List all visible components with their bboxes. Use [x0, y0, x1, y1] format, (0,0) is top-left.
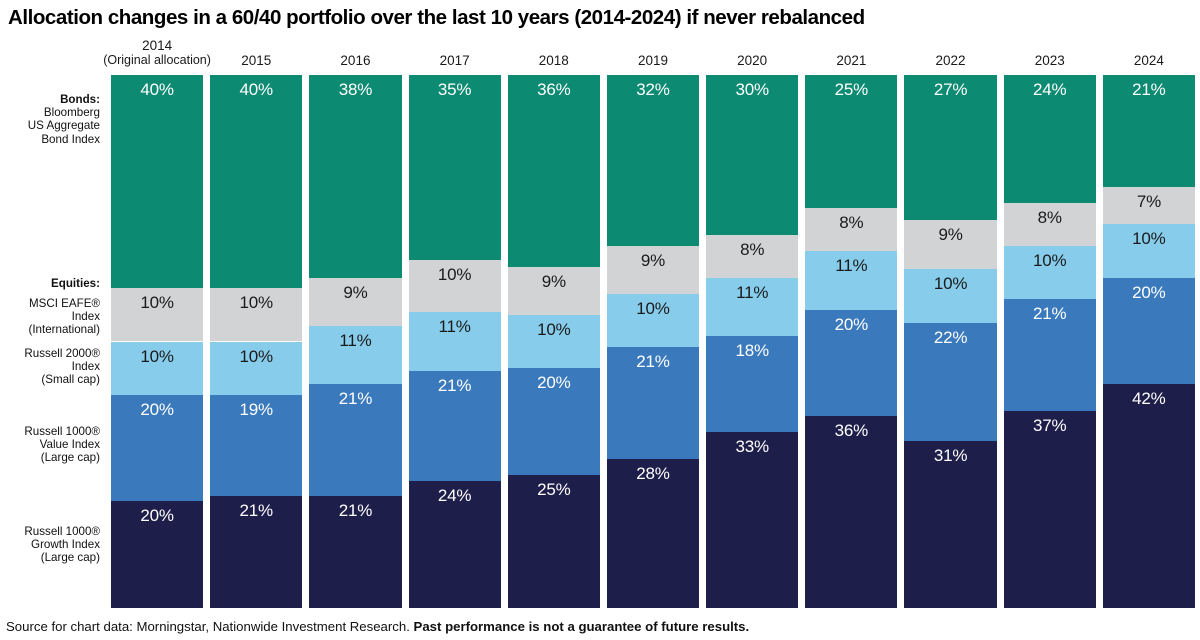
category-axis-labels: Bonds:BloombergUS AggregateBond IndexEqu…: [0, 75, 108, 608]
segment-value-label: 24%: [1033, 75, 1066, 98]
segment-value-label: 9%: [542, 267, 566, 290]
segment-value-label: 10%: [140, 288, 173, 311]
segment-russell-2000-2022: 10%: [904, 269, 996, 323]
year-label-2018: 2018: [508, 38, 600, 72]
axis-label-line: (Small cap): [24, 373, 100, 386]
bar-2019: 32%9%10%21%28%: [607, 75, 699, 608]
year-label-2015: 2015: [210, 38, 302, 72]
year-text: 2016: [309, 53, 401, 68]
segment-russell-2000-2024: 10%: [1103, 224, 1195, 277]
segment-value-label: 25%: [835, 75, 868, 98]
segment-bonds-2016: 38%: [309, 75, 401, 278]
year-label-2017: 2017: [409, 38, 501, 72]
segment-russell-1000-value-2015: 19%: [210, 395, 302, 496]
segment-russell-2000-2017: 11%: [409, 312, 501, 370]
segment-russell-2000-2018: 10%: [508, 315, 600, 368]
segment-value-label: 10%: [1132, 224, 1165, 247]
segment-russell-1000-value-2021: 20%: [805, 310, 897, 417]
segment-value-label: 22%: [934, 323, 967, 346]
page-title: Allocation changes in a 60/40 portfolio …: [8, 6, 1192, 30]
segment-russell-1000-value-2022: 22%: [904, 323, 996, 441]
segment-russell-1000-growth-2017: 24%: [409, 481, 501, 608]
segment-value-label: 9%: [343, 278, 367, 301]
segment-bonds-2020: 30%: [706, 75, 798, 235]
axis-label-0: Bonds:BloombergUS AggregateBond Index: [28, 93, 100, 146]
year-text: 2014: [85, 38, 229, 53]
segment-msci-eafe-2018: 9%: [508, 267, 600, 315]
segment-bonds-2017: 35%: [409, 75, 501, 260]
segment-value-label: 40%: [140, 75, 173, 98]
segment-russell-2000-2015: 10%: [210, 342, 302, 395]
segment-russell-1000-growth-2021: 36%: [805, 416, 897, 608]
segment-russell-1000-value-2023: 21%: [1004, 299, 1096, 411]
segment-value-label: 11%: [339, 326, 371, 349]
segment-msci-eafe-2023: 8%: [1004, 203, 1096, 246]
segment-value-label: 10%: [438, 260, 471, 283]
segment-msci-eafe-2022: 9%: [904, 220, 996, 268]
segment-value-label: 21%: [1033, 299, 1066, 322]
segment-value-label: 18%: [735, 336, 768, 359]
year-label-2019: 2019: [607, 38, 699, 72]
axis-label-line: Bond Index: [28, 133, 100, 146]
year-label-2014: 2014(Original allocation): [85, 38, 229, 72]
chart-page: Allocation changes in a 60/40 portfolio …: [0, 0, 1200, 640]
axis-label-line: Index: [24, 360, 100, 373]
bar-2017: 35%10%11%21%24%: [409, 75, 501, 608]
segment-value-label: 37%: [1033, 411, 1066, 434]
segment-value-label: 42%: [1132, 384, 1165, 407]
segment-russell-1000-value-2024: 20%: [1103, 278, 1195, 385]
segment-value-label: 8%: [1038, 203, 1062, 226]
stacked-bar-plot: 40%10%10%20%20%40%10%10%19%21%38%9%11%21…: [111, 75, 1195, 608]
year-label-2016: 2016: [309, 38, 401, 72]
segment-value-label: 8%: [839, 208, 863, 231]
segment-russell-2000-2019: 10%: [607, 294, 699, 347]
year-label-2021: 2021: [805, 38, 897, 72]
segment-russell-1000-growth-2020: 33%: [706, 432, 798, 608]
segment-msci-eafe-2020: 8%: [706, 235, 798, 278]
year-text: 2018: [508, 53, 600, 68]
segment-russell-1000-growth-2014: 20%: [111, 501, 203, 608]
segment-value-label: 11%: [835, 251, 867, 274]
segment-value-label: 10%: [636, 294, 669, 317]
segment-value-label: 7%: [1137, 187, 1161, 210]
segment-bonds-2015: 40%: [210, 75, 302, 288]
segment-russell-1000-value-2020: 18%: [706, 336, 798, 432]
axis-label-4: Russell 1000®Value Index(Large cap): [24, 425, 100, 465]
axis-label-line: (Large cap): [24, 451, 100, 464]
segment-value-label: 20%: [140, 501, 173, 524]
year-label-2024: 2024: [1103, 38, 1195, 72]
segment-russell-2000-2021: 11%: [805, 251, 897, 310]
segment-russell-1000-growth-2019: 28%: [607, 459, 699, 608]
axis-label-1: Equities:: [51, 277, 100, 290]
segment-value-label: 31%: [934, 441, 967, 464]
segment-msci-eafe-2015: 10%: [210, 288, 302, 341]
axis-label-heading: Equities:: [51, 277, 100, 290]
segment-value-label: 36%: [835, 416, 868, 439]
axis-label-line: Index: [28, 310, 100, 323]
year-text: 2022: [904, 53, 996, 68]
segment-bonds-2019: 32%: [607, 75, 699, 246]
segment-russell-2000-2014: 10%: [111, 342, 203, 395]
segment-value-label: 9%: [641, 246, 665, 269]
axis-label-2: MSCI EAFE®Index(International): [28, 297, 100, 337]
year-label-2022: 2022: [904, 38, 996, 72]
segment-value-label: 10%: [537, 315, 570, 338]
bar-2014: 40%10%10%20%20%: [111, 75, 203, 608]
axis-label-line: (International): [28, 323, 100, 336]
segment-value-label: 28%: [636, 459, 669, 482]
segment-value-label: 9%: [938, 220, 962, 243]
segment-value-label: 24%: [438, 481, 471, 504]
segment-russell-1000-value-2017: 21%: [409, 371, 501, 482]
axis-label-line: Growth Index: [24, 538, 100, 551]
bar-2018: 36%9%10%20%25%: [508, 75, 600, 608]
year-text: 2015: [210, 53, 302, 68]
segment-value-label: 35%: [438, 75, 471, 98]
axis-label-line: Value Index: [24, 438, 100, 451]
segment-russell-2000-2023: 10%: [1004, 246, 1096, 299]
bar-2020: 30%8%11%18%33%: [706, 75, 798, 608]
segment-msci-eafe-2021: 8%: [805, 208, 897, 251]
segment-value-label: 40%: [240, 75, 273, 98]
footer-disclaimer: Past performance is not a guarantee of f…: [414, 619, 750, 634]
bar-2016: 38%9%11%21%21%: [309, 75, 401, 608]
segment-value-label: 10%: [1033, 246, 1066, 269]
segment-russell-1000-value-2014: 20%: [111, 395, 203, 502]
axis-label-line: US Aggregate: [28, 119, 100, 132]
segment-value-label: 30%: [735, 75, 768, 98]
axis-label-line: Russell 1000®: [24, 425, 100, 438]
segment-value-label: 20%: [1132, 278, 1165, 301]
segment-value-label: 11%: [439, 312, 471, 335]
segment-value-label: 10%: [934, 269, 967, 292]
segment-russell-1000-value-2018: 20%: [508, 368, 600, 475]
segment-msci-eafe-2014: 10%: [111, 288, 203, 341]
axis-label-5: Russell 1000®Growth Index(Large cap): [24, 525, 100, 565]
segment-value-label: 21%: [636, 347, 669, 370]
year-label-2023: 2023: [1004, 38, 1096, 72]
segment-value-label: 20%: [537, 368, 570, 391]
segment-value-label: 21%: [438, 371, 471, 394]
segment-bonds-2014: 40%: [111, 75, 203, 288]
year-label-2020: 2020: [706, 38, 798, 72]
year-text: 2019: [607, 53, 699, 68]
segment-russell-1000-growth-2015: 21%: [210, 496, 302, 608]
axis-label-3: Russell 2000®Index(Small cap): [24, 347, 100, 387]
segment-value-label: 10%: [240, 342, 273, 365]
year-text: 2021: [805, 53, 897, 68]
bar-2022: 27%9%10%22%31%: [904, 75, 996, 608]
year-text: 2024: [1103, 53, 1195, 68]
segment-russell-1000-growth-2023: 37%: [1004, 411, 1096, 608]
segment-bonds-2024: 21%: [1103, 75, 1195, 187]
segment-value-label: 33%: [735, 432, 768, 455]
axis-label-line: MSCI EAFE®: [28, 297, 100, 310]
axis-label-line: Russell 2000®: [24, 347, 100, 360]
axis-label-line: Bloomberg: [28, 106, 100, 119]
footer-source: Source for chart data: Morningstar, Nati…: [6, 619, 414, 634]
segment-russell-1000-value-2016: 21%: [309, 384, 401, 496]
segment-value-label: 21%: [339, 384, 372, 407]
segment-russell-2000-2020: 11%: [706, 278, 798, 337]
segment-bonds-2021: 25%: [805, 75, 897, 208]
axis-label-heading: Bonds:: [28, 93, 100, 106]
segment-value-label: 21%: [339, 496, 372, 519]
segment-msci-eafe-2017: 10%: [409, 260, 501, 313]
segment-russell-1000-growth-2016: 21%: [309, 496, 401, 608]
segment-msci-eafe-2016: 9%: [309, 278, 401, 326]
bar-2024: 21%7%10%20%42%: [1103, 75, 1195, 608]
segment-bonds-2018: 36%: [508, 75, 600, 267]
segment-value-label: 36%: [537, 75, 570, 98]
axis-label-line: (Large cap): [24, 551, 100, 564]
segment-value-label: 20%: [835, 310, 868, 333]
segment-value-label: 32%: [636, 75, 669, 98]
segment-value-label: 20%: [140, 395, 173, 418]
segment-value-label: 10%: [140, 342, 173, 365]
year-text: 2017: [409, 53, 501, 68]
segment-msci-eafe-2024: 7%: [1103, 187, 1195, 224]
segment-value-label: 21%: [240, 496, 273, 519]
chart-footer: Source for chart data: Morningstar, Nati…: [6, 619, 749, 634]
year-text: 2023: [1004, 53, 1096, 68]
year-sublabel: (Original allocation): [85, 53, 229, 68]
segment-value-label: 10%: [240, 288, 273, 311]
segment-bonds-2023: 24%: [1004, 75, 1096, 203]
segment-msci-eafe-2019: 9%: [607, 246, 699, 294]
segment-value-label: 8%: [740, 235, 764, 258]
segment-value-label: 21%: [1132, 75, 1165, 98]
bar-2021: 25%8%11%20%36%: [805, 75, 897, 608]
segment-russell-2000-2016: 11%: [309, 326, 401, 385]
segment-russell-1000-growth-2022: 31%: [904, 441, 996, 608]
bar-2015: 40%10%10%19%21%: [210, 75, 302, 608]
segment-value-label: 25%: [537, 475, 570, 498]
segment-bonds-2022: 27%: [904, 75, 996, 220]
bar-2023: 24%8%10%21%37%: [1004, 75, 1096, 608]
segment-value-label: 38%: [339, 75, 372, 98]
segment-value-label: 11%: [736, 278, 768, 301]
year-text: 2020: [706, 53, 798, 68]
segment-value-label: 19%: [240, 395, 273, 418]
segment-russell-1000-growth-2018: 25%: [508, 475, 600, 608]
segment-russell-1000-growth-2024: 42%: [1103, 384, 1195, 608]
segment-value-label: 27%: [934, 75, 967, 98]
axis-label-line: Russell 1000®: [24, 525, 100, 538]
segment-russell-1000-value-2019: 21%: [607, 347, 699, 459]
